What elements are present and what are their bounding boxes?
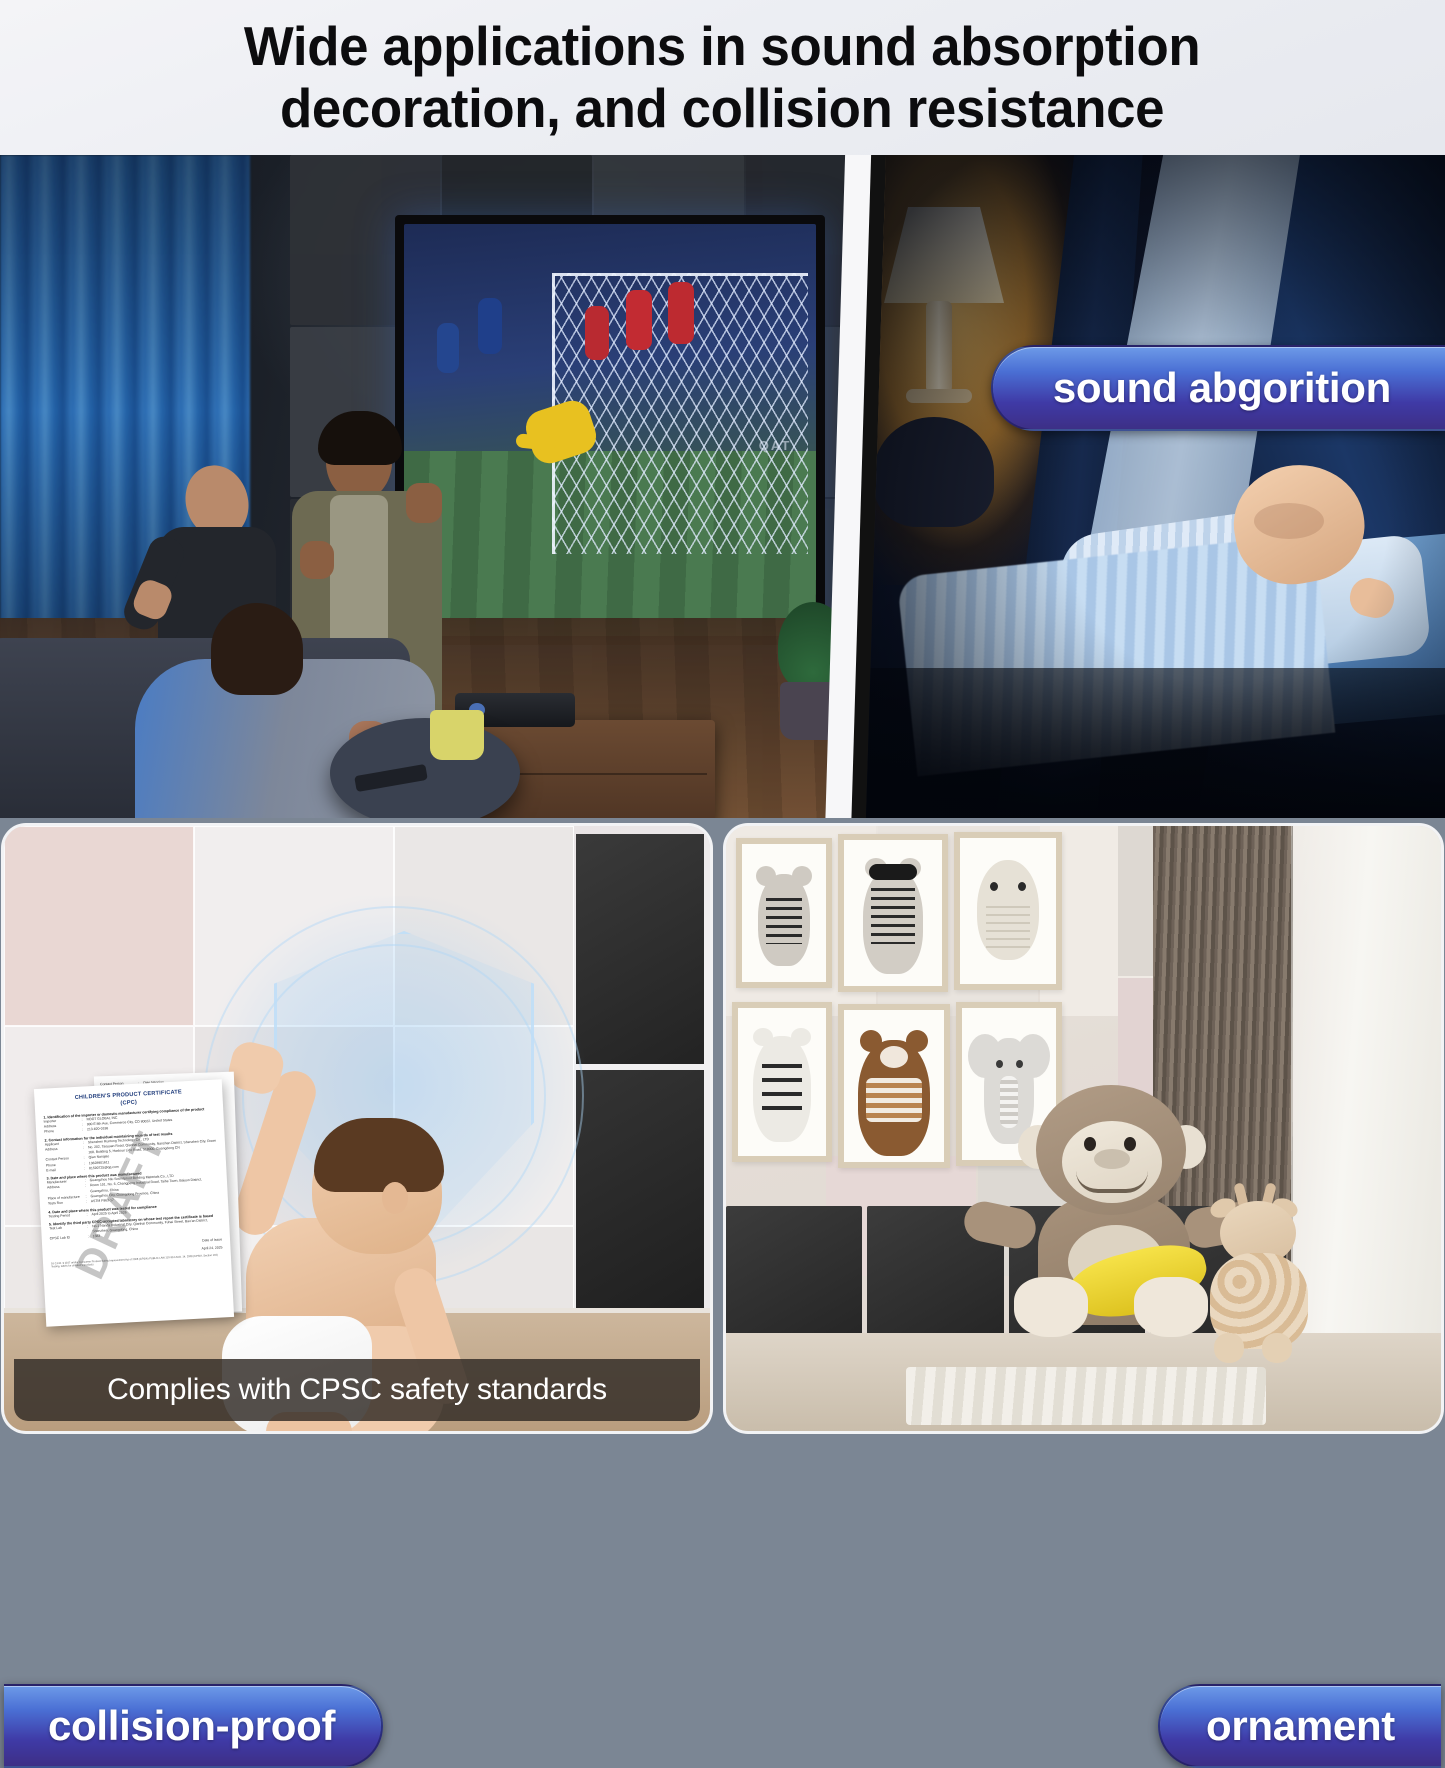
monkey-smile xyxy=(1076,1171,1148,1193)
giraffe-leg-left xyxy=(1214,1333,1244,1363)
art-frame-brown-bear xyxy=(838,1004,950,1168)
owl-illustration xyxy=(977,860,1039,972)
badge-collision-label: collision-proof xyxy=(48,1702,335,1750)
person-c-head xyxy=(211,603,303,695)
living-room-photo: QAT xyxy=(0,155,880,818)
toddler-hair xyxy=(314,1118,444,1192)
monkey-hand-left xyxy=(1014,1277,1088,1337)
raccoon-illustration xyxy=(758,860,810,970)
giraffe-leg-right xyxy=(1262,1333,1292,1363)
collision-proof-panel: Contact Person:Qian Nanqiao Phone:138289… xyxy=(4,826,710,1431)
childrens-product-certificate: CHILDREN'S PRODUCT CERTIFICATE (CPC) 1. … xyxy=(34,1079,234,1327)
badge-ornament: ornament xyxy=(1158,1684,1441,1768)
nursery-crib-photo xyxy=(866,155,1445,818)
art-frame-owl xyxy=(954,832,1062,990)
monkey-eye-right xyxy=(1124,1137,1136,1151)
striped-rug xyxy=(906,1367,1266,1425)
ornament-panel xyxy=(726,826,1441,1431)
bandit-bear-illustration xyxy=(863,850,923,976)
art-frame-raccoon xyxy=(736,838,832,988)
bottom-photo-row: Contact Person:Qian Nanqiao Phone:138289… xyxy=(0,826,1445,1445)
monkey-nose xyxy=(1094,1149,1130,1169)
art-frame-polar-bear xyxy=(732,1002,832,1162)
player-blue-1 xyxy=(478,298,502,354)
pitch-side-advert: QAT xyxy=(759,438,791,453)
monkey-eye-left xyxy=(1084,1137,1096,1151)
polar-bear-illustration xyxy=(753,1024,811,1148)
art-frame-bandit-bear xyxy=(838,834,948,992)
header-banner: Wide applications in sound absorption de… xyxy=(0,0,1445,155)
badge-sound-absorption: sound abgorition xyxy=(991,345,1445,431)
page-title-line-1: Wide applications in sound absorption xyxy=(244,16,1200,78)
badge-ornament-label: ornament xyxy=(1206,1702,1395,1750)
brown-bear-illustration xyxy=(858,1024,930,1158)
coffee-mug xyxy=(430,710,484,760)
person-b-fist-right xyxy=(406,483,442,523)
dark-tile-1 xyxy=(726,1206,862,1336)
person-b-fist-left xyxy=(300,541,334,579)
nursery-vignette xyxy=(866,155,1445,818)
top-photo-row: QAT xyxy=(0,155,1445,818)
player-red-1 xyxy=(626,290,652,350)
cpsc-caption-text: Complies with CPSC safety standards xyxy=(107,1373,607,1407)
player-red-2 xyxy=(668,282,694,344)
plush-giraffe xyxy=(1196,1189,1316,1359)
cpsc-caption-bar: Complies with CPSC safety standards xyxy=(14,1359,700,1421)
badge-collision-proof: collision-proof xyxy=(4,1684,383,1768)
badge-sound-label: sound abgorition xyxy=(1053,364,1391,412)
player-blue-2 xyxy=(437,323,459,373)
page-title: Wide applications in sound absorption de… xyxy=(187,16,1258,139)
toddler-ear xyxy=(382,1182,408,1214)
player-red-3 xyxy=(585,306,609,360)
page-title-line-2: decoration, and collision resistance xyxy=(244,78,1200,140)
